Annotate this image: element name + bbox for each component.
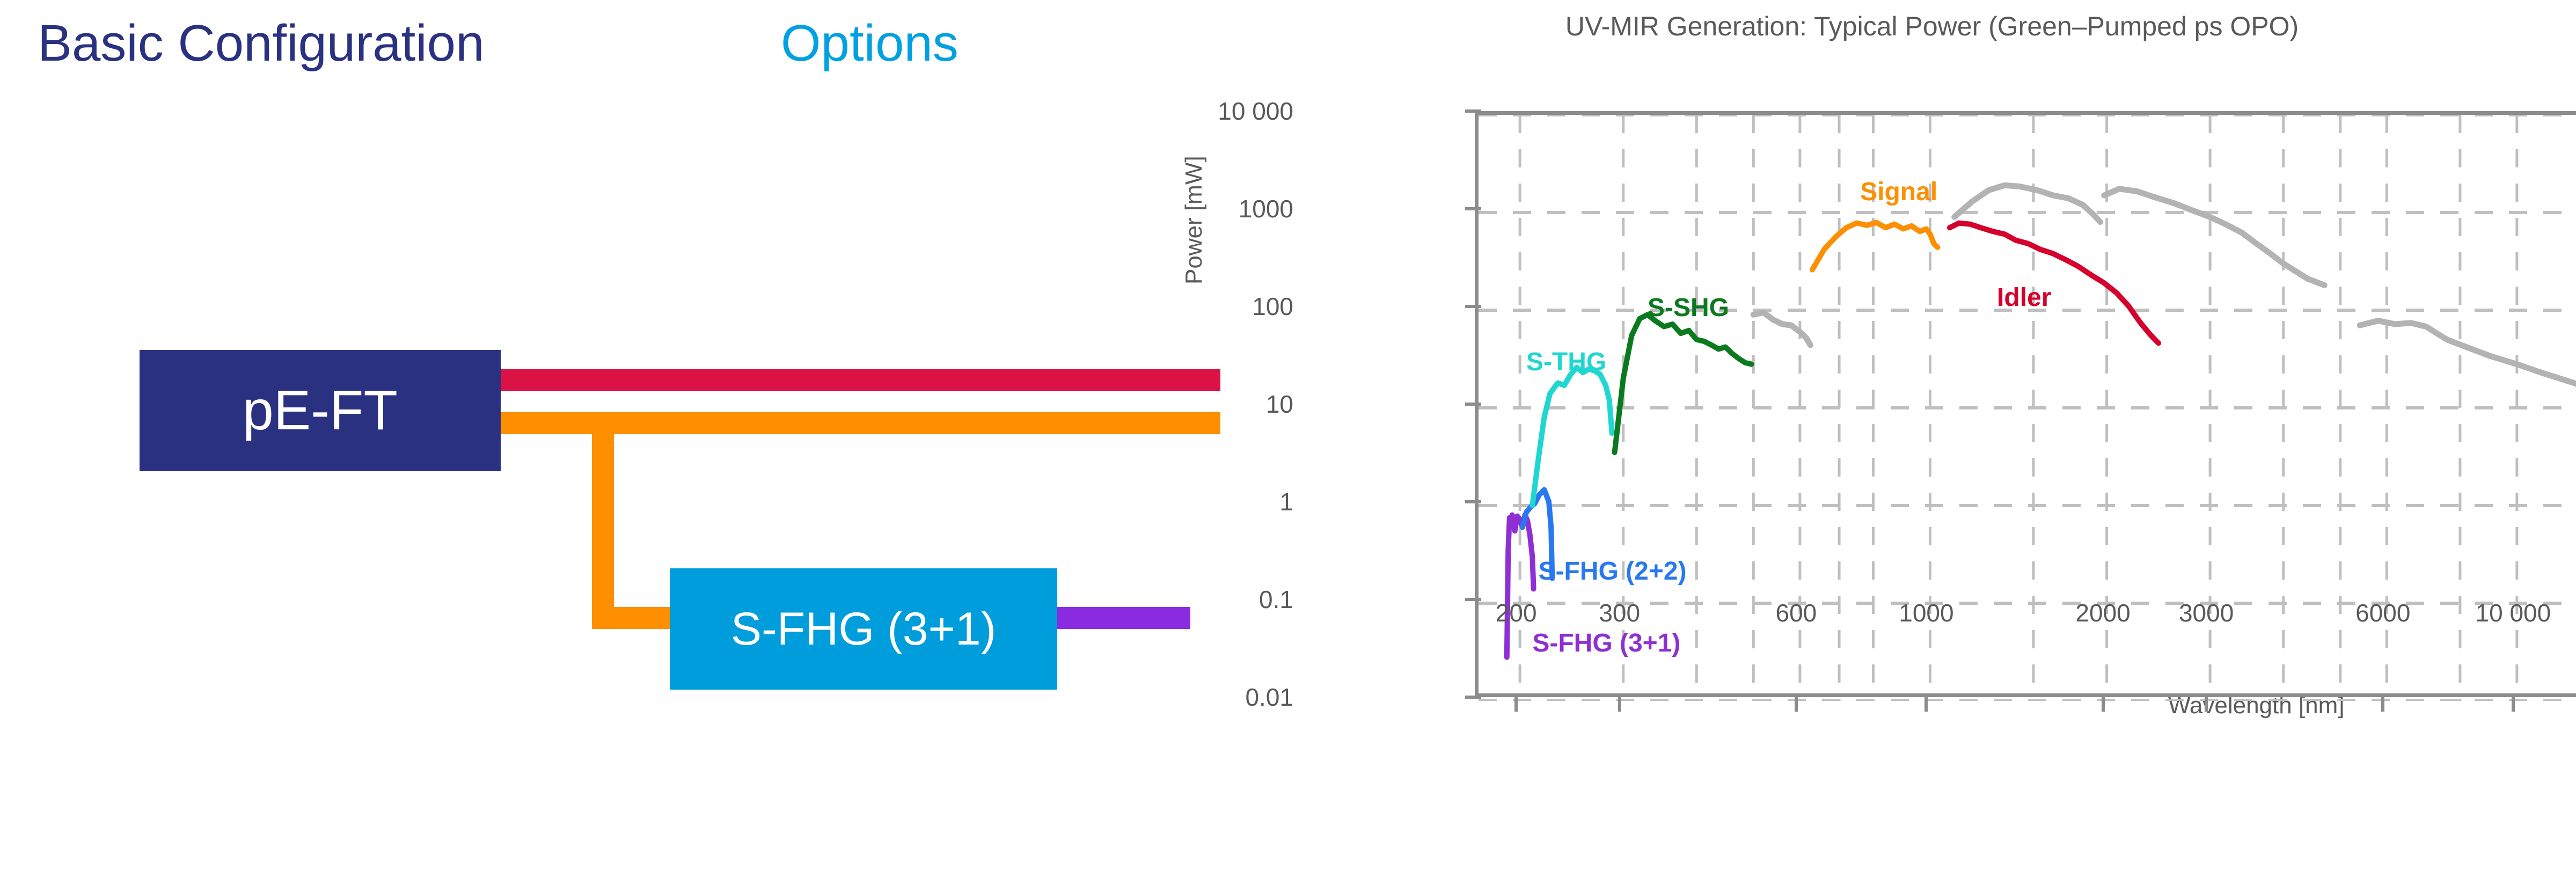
y-tick-mark (1465, 696, 1481, 699)
series-line-signal (1812, 223, 1938, 270)
x-tick-mark (1618, 696, 1621, 712)
series-label-s-fhg-2-2: S-FHG (2+2) (1539, 557, 1687, 586)
y-tick-mark (1465, 305, 1481, 308)
x-tick-mark (2512, 696, 2515, 712)
x-tick-label: 10 000 (2476, 598, 2551, 627)
heading-basic-configuration: Basic Configuration (38, 14, 484, 73)
x-tick-mark (2205, 696, 2208, 712)
chart-panel: UV-MIR Generation: Typical Power (Green–… (1288, 0, 2576, 878)
series-label-signal: Signal (1860, 177, 1937, 207)
x-tick-label: 1000 (1899, 598, 1953, 627)
y-tick-mark (1465, 207, 1481, 210)
y-axis-label: Power [mW] (1181, 156, 1207, 284)
purple-output-bar (1056, 607, 1190, 629)
series-label-s-fhg-3-1: S-FHG (3+1) (1532, 628, 1680, 658)
y-tick-mark (1465, 500, 1481, 503)
y-tick-label: 1 (1279, 487, 1293, 516)
series-line-unlabeled-gray-4 (2360, 321, 2576, 469)
x-tick-label: 6000 (2355, 598, 2410, 627)
x-tick-label: 2000 (2075, 598, 2130, 627)
x-tick-mark (1795, 696, 1798, 712)
series-line-s-shg (1615, 314, 1752, 452)
y-tick-label: 100 (1252, 292, 1293, 321)
series-line-unlabeled-gray-3 (2104, 189, 2324, 286)
heading-options: Options (781, 14, 958, 73)
block-pe-ft[interactable]: pE-FT (140, 350, 501, 471)
x-tick-mark (1514, 696, 1518, 712)
plot-area (1479, 115, 2576, 693)
series-line-unlabeled-gray-1 (1753, 312, 1810, 345)
series-line-idler (1950, 223, 2158, 343)
y-tick-mark (1465, 598, 1481, 601)
red-output-bar (501, 369, 1220, 391)
series-line-s-thg (1532, 368, 1612, 506)
x-tick-label: 200 (1496, 598, 1537, 627)
block-s-fhg-3-plus-1[interactable]: S-FHG (3+1) (670, 568, 1057, 690)
x-tick-mark (2381, 696, 2384, 712)
y-tick-label: 10 (1266, 390, 1293, 419)
y-tick-mark (1465, 109, 1481, 113)
y-tick-label: 1000 (1239, 194, 1293, 223)
orange-branch-horizontal (592, 607, 671, 629)
x-tick-mark (1924, 696, 1928, 712)
x-tick-mark (2102, 696, 2105, 712)
series-label-idler: Idler (1997, 283, 2051, 312)
basic-configuration-panel: Basic Configuration Options pE-FT S-FHG … (0, 0, 1288, 878)
series-line-unlabeled-gray-2 (1955, 185, 2101, 222)
y-tick-label: 0.01 (1245, 683, 1293, 712)
x-tick-label: 3000 (2179, 598, 2234, 627)
series-label-s-shg: S-SHG (1648, 293, 1729, 323)
y-tick-mark (1465, 403, 1481, 406)
series-label-s-thg: S-THG (1526, 347, 1606, 377)
orange-branch-vertical (592, 412, 614, 629)
chart-svg (1479, 115, 2576, 701)
x-tick-label: 600 (1775, 598, 1817, 627)
y-tick-label: 0.1 (1259, 585, 1293, 614)
y-tick-label: 10 000 (1218, 97, 1293, 126)
x-tick-label: 300 (1599, 598, 1640, 627)
chart-title: UV-MIR Generation: Typical Power (Green–… (1288, 11, 2576, 42)
